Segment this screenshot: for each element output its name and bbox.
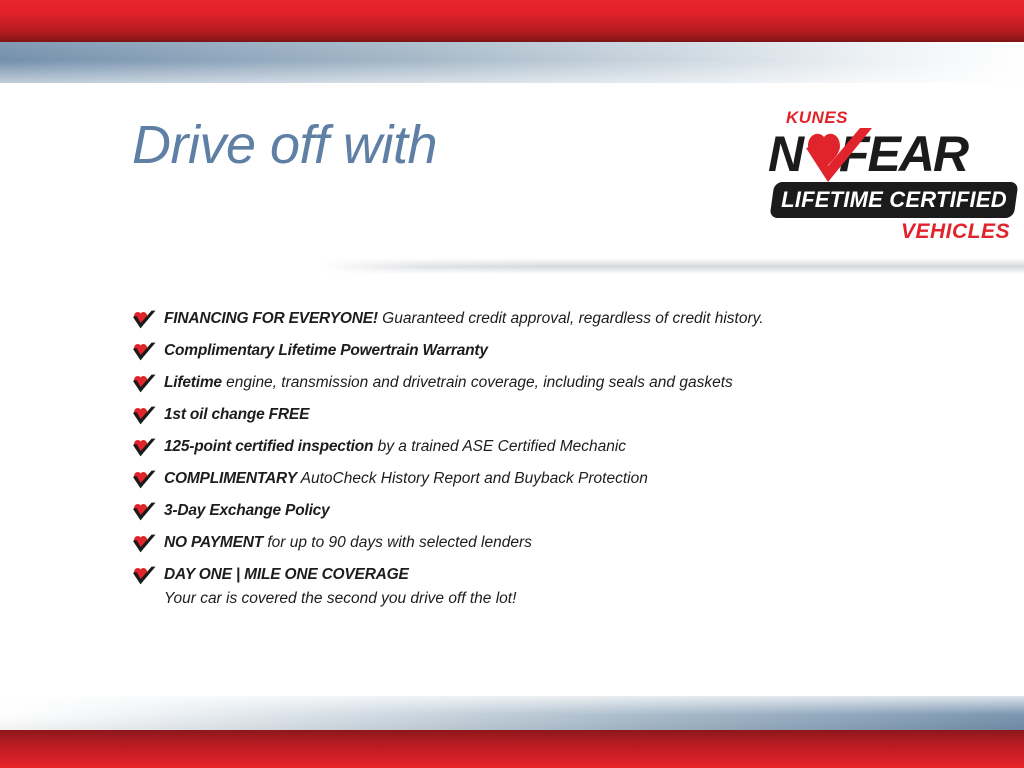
feature-item: 3-Day Exchange Policy	[132, 500, 952, 522]
logo-no-fear-wordmark: NOFEAR	[768, 124, 1016, 186]
logo-letter-n: N	[768, 126, 802, 182]
kunes-no-fear-logo: KUNES NOFEAR LIFETIME CERTIFIED VEHICLES	[768, 108, 1016, 248]
heart-check-bullet-icon	[132, 310, 156, 329]
feature-subline: Your car is covered the second you drive…	[164, 588, 952, 610]
feature-headline: COMPLIMENTARY	[164, 470, 297, 487]
heart-check-bullet-icon	[132, 470, 156, 489]
logo-vehicles-label: VEHICLES	[901, 220, 1010, 244]
heart-check-bullet-icon	[132, 502, 156, 521]
feature-headline: Complimentary Lifetime Powertrain Warran…	[164, 342, 488, 359]
page-title: Drive off with Peace of Mind	[132, 118, 732, 236]
feature-detail: engine, transmission and drivetrain cove…	[222, 374, 733, 391]
feature-item: 1st oil change FREE	[132, 404, 952, 426]
heart-check-bullet-icon	[132, 374, 156, 393]
feature-item: COMPLIMENTARY AutoCheck History Report a…	[132, 468, 952, 490]
feature-headline: NO PAYMENT	[164, 534, 263, 551]
heart-check-bullet-icon	[132, 534, 156, 553]
top-steel-bar	[0, 42, 1024, 83]
feature-detail: by a trained ASE Certified Mechanic	[373, 438, 626, 455]
feature-headline: FINANCING FOR EVERYONE!	[164, 310, 378, 327]
feature-headline: 3-Day Exchange Policy	[164, 502, 330, 519]
feature-headline: 1st oil change FREE	[164, 406, 309, 423]
promo-banner: Drive off with Peace of Mind KUNES NOFEA…	[0, 0, 1024, 768]
heart-check-bullet-icon	[132, 566, 156, 585]
heart-check-bullet-icon	[132, 438, 156, 457]
logo-lifetime-certified-band: LIFETIME CERTIFIED	[769, 182, 1018, 218]
heart-check-icon	[802, 126, 874, 188]
top-red-bar	[0, 0, 1024, 42]
feature-item: FINANCING FOR EVERYONE! Guaranteed credi…	[132, 308, 952, 330]
bottom-red-bar	[0, 730, 1024, 768]
headline-line-1: Drive off with	[132, 118, 732, 173]
feature-headline: DAY ONE | MILE ONE COVERAGE	[164, 566, 409, 583]
feature-item: NO PAYMENT for up to 90 days with select…	[132, 532, 952, 554]
feature-list: FINANCING FOR EVERYONE! Guaranteed credi…	[132, 308, 952, 620]
bottom-steel-bar	[0, 696, 1024, 730]
feature-headline: 125-point certified inspection	[164, 438, 373, 455]
heart-check-bullet-icon	[132, 406, 156, 425]
logo-band-label: LIFETIME CERTIFIED	[772, 182, 1016, 218]
feature-item: Complimentary Lifetime Powertrain Warran…	[132, 340, 952, 362]
header-divider	[318, 258, 1024, 274]
feature-item: Lifetime engine, transmission and drivet…	[132, 372, 952, 394]
feature-headline: Lifetime	[164, 374, 222, 391]
feature-item: DAY ONE | MILE ONE COVERAGEYour car is c…	[132, 564, 952, 610]
feature-detail: Guaranteed credit approval, regardless o…	[378, 310, 764, 327]
headline-line-2: Peace of Mind	[176, 171, 732, 236]
feature-detail: for up to 90 days with selected lenders	[263, 534, 532, 551]
feature-item: 125-point certified inspection by a trai…	[132, 436, 952, 458]
heart-check-bullet-icon	[132, 342, 156, 361]
feature-detail: AutoCheck History Report and Buyback Pro…	[297, 470, 648, 487]
